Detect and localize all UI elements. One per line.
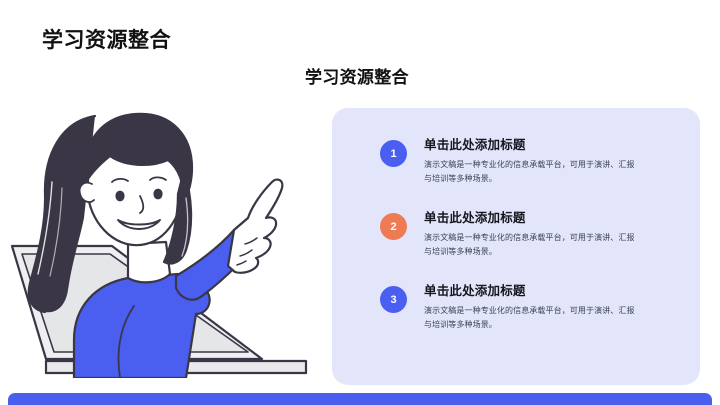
list-item-title: 单击此处添加标题 [424,211,636,226]
numbered-list: 1 单击此处添加标题 演示文稿是一种专业化的信息承载平台，可用于演讲、汇报与培训… [380,138,680,332]
woman-pointing-with-laptop-illustration [0,78,340,378]
list-item-title: 单击此处添加标题 [424,284,636,299]
content-panel: 1 单击此处添加标题 演示文稿是一种专业化的信息承载平台，可用于演讲、汇报与培训… [332,108,700,385]
list-item[interactable]: 1 单击此处添加标题 演示文稿是一种专业化的信息承载平台，可用于演讲、汇报与培训… [380,138,680,186]
list-item-description: 演示文稿是一种专业化的信息承载平台，可用于演讲、汇报与培训等多种场景。 [424,304,636,332]
list-item-body: 单击此处添加标题 演示文稿是一种专业化的信息承载平台，可用于演讲、汇报与培训等多… [424,211,636,259]
list-item-title: 单击此处添加标题 [424,138,636,153]
list-item[interactable]: 3 单击此处添加标题 演示文稿是一种专业化的信息承载平台，可用于演讲、汇报与培训… [380,284,680,332]
list-item-description: 演示文稿是一种专业化的信息承载平台，可用于演讲、汇报与培训等多种场景。 [424,158,636,186]
bottom-accent-bar [8,393,712,405]
section-title: 学习资源整合 [305,69,409,88]
list-item-badge-1: 1 [380,140,407,167]
list-item-description: 演示文稿是一种专业化的信息承载平台，可用于演讲、汇报与培训等多种场景。 [424,231,636,259]
list-item-badge-2: 2 [380,213,407,240]
list-item-body: 单击此处添加标题 演示文稿是一种专业化的信息承载平台，可用于演讲、汇报与培训等多… [424,284,636,332]
page-title: 学习资源整合 [42,29,171,52]
list-item-badge-3: 3 [380,286,407,313]
list-item-body: 单击此处添加标题 演示文稿是一种专业化的信息承载平台，可用于演讲、汇报与培训等多… [424,138,636,186]
slide-canvas: 学习资源整合 [0,0,720,405]
list-item[interactable]: 2 单击此处添加标题 演示文稿是一种专业化的信息承载平台，可用于演讲、汇报与培训… [380,211,680,259]
